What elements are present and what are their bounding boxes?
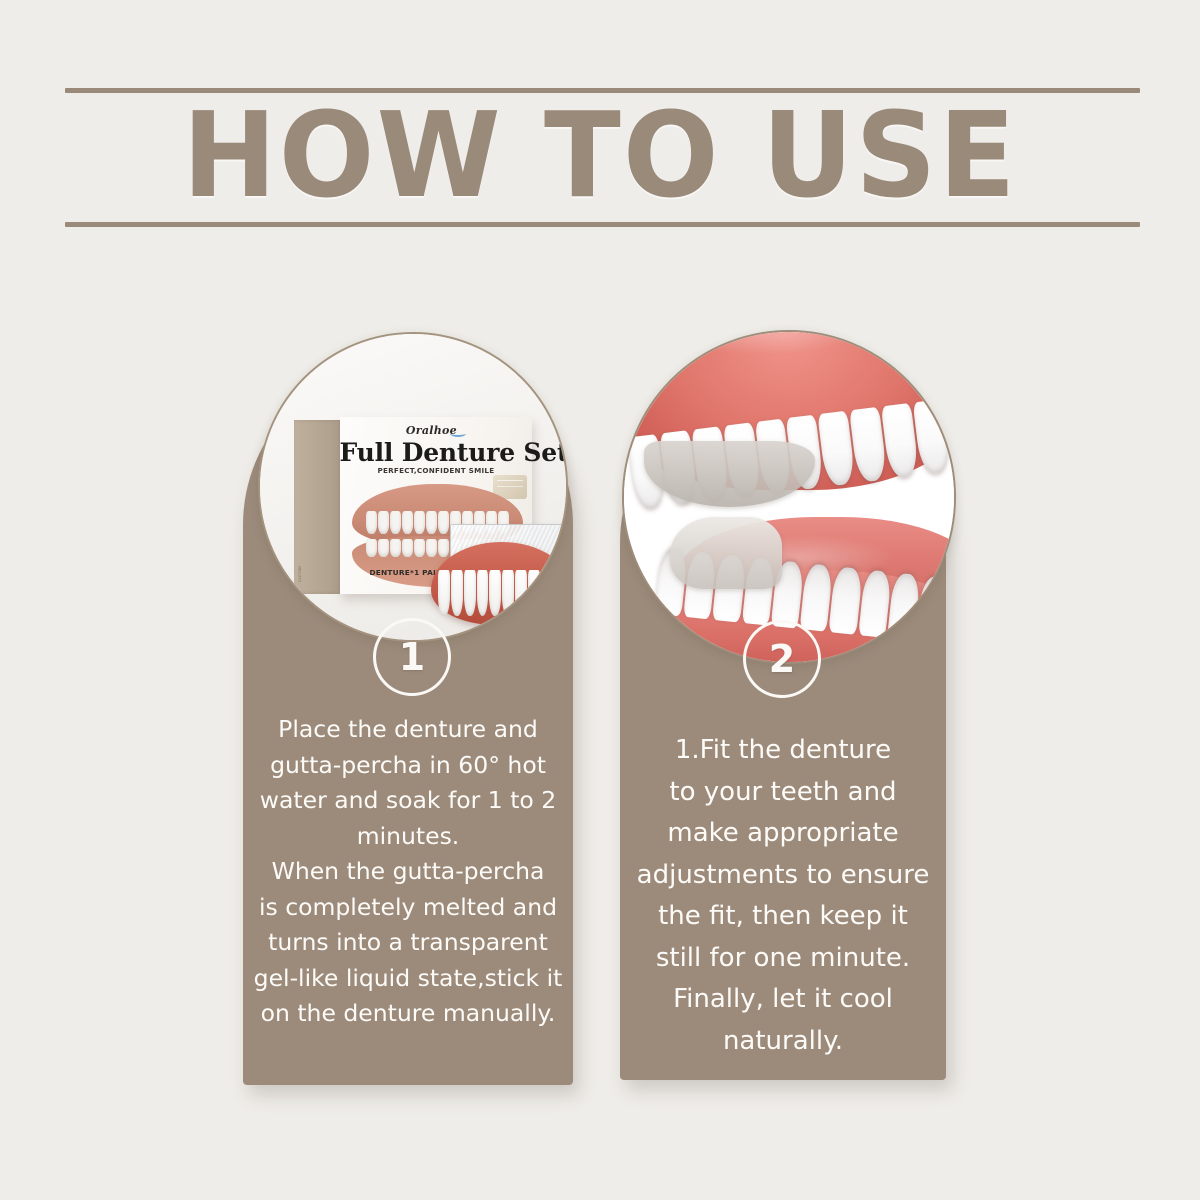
denture-fitting-photo [624, 332, 954, 662]
title-rule-bottom [65, 222, 1140, 227]
step-number-2: 2 [769, 640, 795, 678]
step-2-description: 1.Fit the denture to your teeth and make… [612, 730, 954, 1062]
step-badge-1: 1 [373, 618, 451, 696]
step-badge-2: 2 [743, 620, 821, 698]
product-box-photo: CAUTION Oralhoe Full Denture Set PERFECT… [260, 334, 566, 640]
veneer-teeth-row [438, 570, 565, 616]
brand-logo: Oralhoe [340, 424, 533, 437]
page-title: HOW TO USE [0, 96, 1200, 214]
step-1-image: CAUTION Oralhoe Full Denture Set PERFECT… [258, 332, 568, 642]
veneer-denture [431, 542, 568, 625]
brand-swoosh-icon [450, 430, 466, 437]
lower-veneer-tray [670, 517, 782, 590]
step-number-1: 1 [399, 638, 425, 676]
box-side-panel-label: CAUTION [298, 429, 338, 582]
step-2-image [622, 330, 956, 664]
infographic-root: HOW TO USE CAUTION Oralhoe Full Denture … [0, 0, 1200, 1200]
product-subtitle: PERFECT,CONFIDENT SMILE [340, 466, 533, 475]
step-1-description: Place the denture and gutta-percha in 60… [249, 712, 567, 1032]
product-title: Full Denture Set [340, 440, 533, 466]
